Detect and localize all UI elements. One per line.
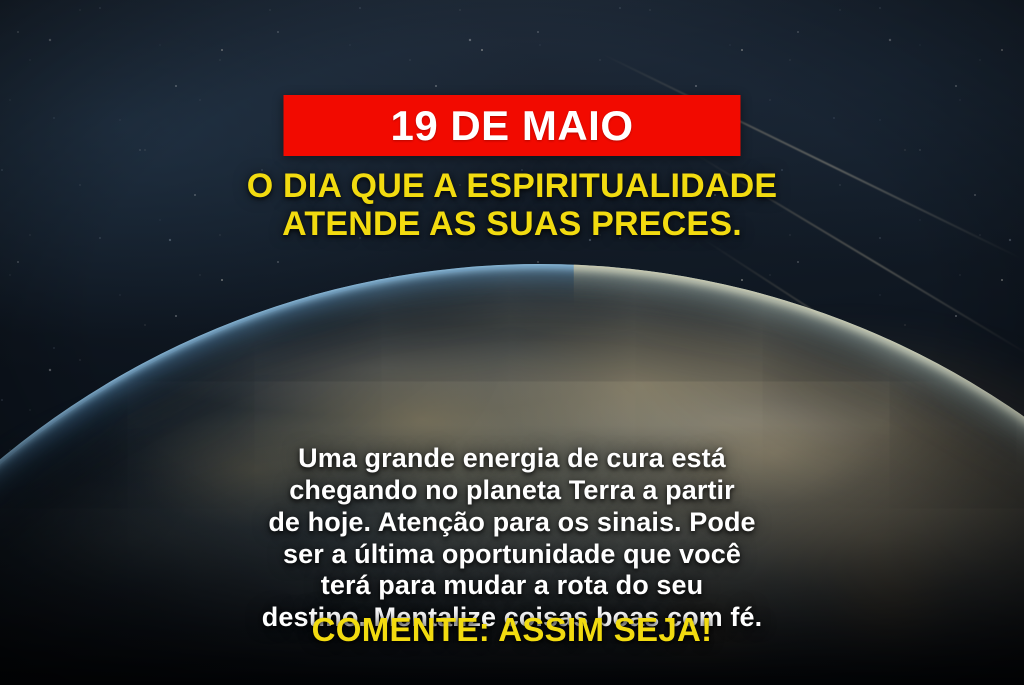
body-line-5: terá para mudar a rota do seu (40, 570, 984, 602)
body-paragraph: Uma grande energia de cura está chegando… (0, 443, 1024, 634)
headline-line-2: ATENDE AS SUAS PRECES. (40, 205, 984, 243)
body-line-3: de hoje. Atenção para os sinais. Pode (40, 507, 984, 539)
headline-line-1: O DIA QUE A ESPIRITUALIDADE (40, 167, 984, 205)
body-line-4: ser a última oportunidade que você (40, 539, 984, 571)
poster-image: 19 DE MAIO O DIA QUE A ESPIRITUALIDADE A… (0, 0, 1024, 685)
date-banner-text: 19 DE MAIO (390, 105, 633, 147)
body-line-2: chegando no planeta Terra a partir (40, 475, 984, 507)
poster-content: 19 DE MAIO O DIA QUE A ESPIRITUALIDADE A… (0, 0, 1024, 685)
call-to-action-text: COMENTE: ASSIM SEJA! (0, 613, 1024, 646)
date-banner: 19 DE MAIO (284, 95, 741, 156)
body-line-1: Uma grande energia de cura está (40, 443, 984, 475)
headline: O DIA QUE A ESPIRITUALIDADE ATENDE AS SU… (0, 167, 1024, 243)
